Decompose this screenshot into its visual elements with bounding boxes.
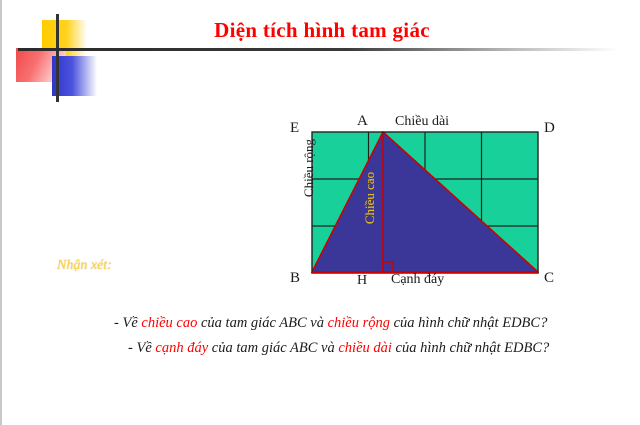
q2-tail: của hình chữ nhật EDBC? [392,340,549,356]
question-item-2: - Về cạnh đáy của tam giác ABC và chiều … [114,337,584,359]
base-label: Cạnh đáy [391,272,444,288]
remark-label: Nhận xét: [57,258,112,274]
figure-svg [311,131,539,274]
vertex-label-D: D [544,120,555,137]
q1-mid: của tam giác ABC và [197,315,327,331]
q2-highlight-1: cạnh đáy [155,340,208,356]
q2-mid: của tam giác ABC và [208,340,338,356]
height-label: Chiều cao [362,172,378,224]
vertex-label-B: B [290,270,300,287]
vertex-label-C: C [544,270,554,287]
vertex-label-E: E [290,120,299,137]
horizontal-divider-rule [18,48,618,51]
slide-canvas: Diện tích hình tam giác [0,0,640,425]
length-label: Chiều dài [395,114,449,130]
q1-highlight-2: chiều rộng [328,315,390,331]
q1-highlight-1: chiều cao [141,315,197,331]
q1-lead: Về [122,315,141,331]
question-item-1: - Về chiều cao của tam giác ABC và chiều… [114,312,584,334]
page-title: Diện tích hình tam giác [2,18,640,43]
q2-highlight-2: chiều dài [338,340,392,356]
vertex-label-H: H [357,273,367,289]
width-label: Chiều rộng [301,139,317,197]
q2-lead: Về [136,340,155,356]
triangle-in-rectangle-diagram: E A D B H C Chiều dài Cạnh đáy Chiều rộn… [288,112,560,292]
figure-graphic [311,131,539,274]
vertex-label-A: A [357,113,368,130]
q1-tail: của hình chữ nhật EDBC? [390,315,547,331]
question-list: - Về chiều cao của tam giác ABC và chiều… [114,312,584,362]
